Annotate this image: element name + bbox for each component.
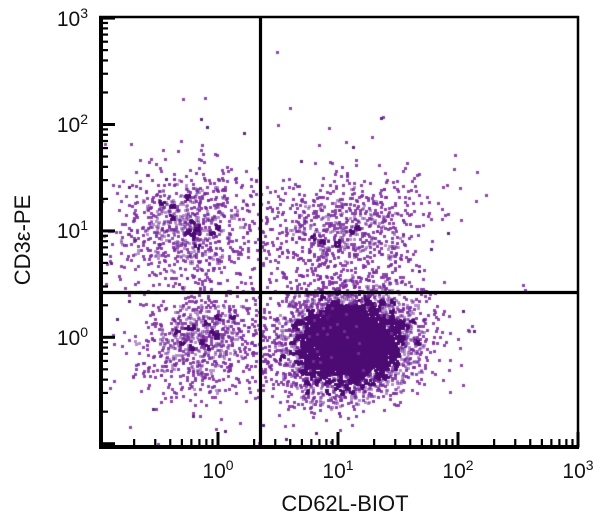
flow-cytometry-dot-plot: 100 101 102 103 100 101 102 103 CD62L-BI… [0,0,600,527]
scatter-plot-canvas [0,0,600,527]
